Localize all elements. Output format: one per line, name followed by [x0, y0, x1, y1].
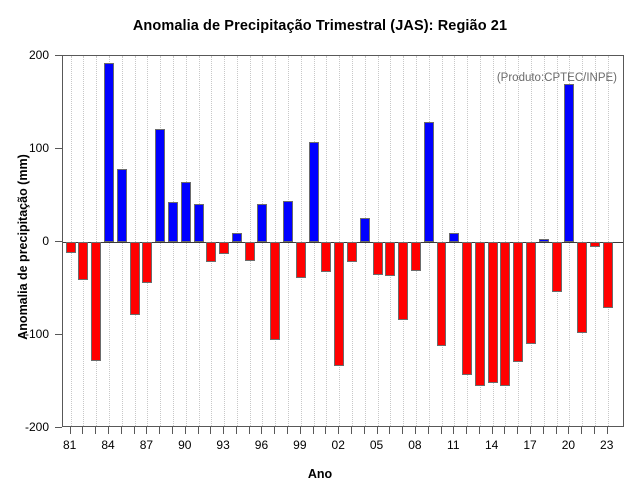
x-tick-mark — [223, 427, 224, 434]
bar-10 — [437, 242, 447, 346]
bar-02 — [334, 242, 344, 366]
gridline-vertical — [96, 56, 97, 426]
bar-87 — [142, 242, 152, 283]
gridline-vertical — [211, 56, 212, 426]
bar-17 — [526, 242, 536, 344]
x-tick-mark — [556, 427, 557, 434]
gridline-vertical — [135, 56, 136, 426]
bar-22 — [590, 242, 600, 247]
bar-11 — [449, 233, 459, 242]
bar-04 — [360, 218, 370, 242]
x-tick-mark — [210, 427, 211, 434]
bar-08 — [411, 242, 421, 271]
gridline-vertical — [390, 56, 391, 426]
x-tick-mark — [134, 427, 135, 434]
gridline-vertical — [378, 56, 379, 426]
x-tick-label: 84 — [101, 438, 114, 452]
x-tick-mark — [274, 427, 275, 434]
bar-86 — [130, 242, 140, 315]
x-tick-label: 14 — [485, 438, 498, 452]
x-tick-mark — [95, 427, 96, 434]
gridline-vertical — [531, 56, 532, 426]
y-axis-label: Anomalia de precipitação (mm) — [16, 67, 30, 427]
x-tick-mark — [70, 427, 71, 434]
x-tick-mark — [338, 427, 339, 434]
bar-89 — [168, 202, 178, 242]
gridline-vertical — [416, 56, 417, 426]
x-tick-label: 99 — [293, 438, 306, 452]
bar-18 — [539, 239, 549, 242]
x-tick-mark — [441, 427, 442, 434]
bar-97 — [270, 242, 280, 340]
x-tick-mark — [364, 427, 365, 434]
bar-99 — [296, 242, 306, 278]
bar-98 — [283, 201, 293, 242]
bar-09 — [424, 122, 434, 242]
x-tick-mark — [351, 427, 352, 434]
gridline-vertical — [147, 56, 148, 426]
x-tick-mark — [377, 427, 378, 434]
x-tick-mark — [249, 427, 250, 434]
bar-90 — [181, 182, 191, 242]
source-annotation: (Produto:CPTEC/INPE) — [497, 72, 617, 84]
x-tick-label: 23 — [600, 438, 613, 452]
gridline-vertical — [518, 56, 519, 426]
x-tick-mark — [172, 427, 173, 434]
bar-81 — [66, 242, 76, 253]
bar-95 — [245, 242, 255, 261]
x-tick-label: 87 — [140, 438, 153, 452]
x-tick-mark — [159, 427, 160, 434]
x-tick-mark — [504, 427, 505, 434]
x-tick-mark — [108, 427, 109, 434]
x-tick-label: 93 — [216, 438, 229, 452]
x-tick-mark — [185, 427, 186, 434]
bar-00 — [309, 142, 319, 242]
bar-84 — [104, 63, 114, 242]
gridline-vertical — [608, 56, 609, 426]
x-tick-mark — [389, 427, 390, 434]
x-tick-mark — [236, 427, 237, 434]
x-tick-mark — [517, 427, 518, 434]
x-tick-label: 81 — [63, 438, 76, 452]
x-tick-mark — [300, 427, 301, 434]
bar-16 — [513, 242, 523, 362]
x-tick-mark — [568, 427, 569, 434]
x-tick-label: 05 — [370, 438, 383, 452]
x-tick-label: 17 — [523, 438, 536, 452]
gridline-vertical — [582, 56, 583, 426]
x-tick-mark — [198, 427, 199, 434]
x-tick-mark — [453, 427, 454, 434]
x-tick-mark — [82, 427, 83, 434]
bar-19 — [552, 242, 562, 292]
gridline-vertical — [352, 56, 353, 426]
x-tick-mark — [146, 427, 147, 434]
gridline-vertical — [301, 56, 302, 426]
x-tick-mark — [492, 427, 493, 434]
y-tick-mark — [55, 55, 62, 56]
x-tick-mark — [415, 427, 416, 434]
bar-94 — [232, 233, 242, 242]
gridline-vertical — [442, 56, 443, 426]
x-tick-mark — [325, 427, 326, 434]
x-tick-mark — [607, 427, 608, 434]
x-axis-label: Ano — [0, 467, 640, 481]
bar-21 — [577, 242, 587, 333]
y-tick-label: 200 — [0, 48, 49, 62]
y-tick-mark — [55, 427, 62, 428]
x-tick-label: 11 — [447, 438, 459, 452]
gridline-vertical — [326, 56, 327, 426]
bar-93 — [219, 242, 229, 254]
bar-14 — [488, 242, 498, 383]
x-tick-mark — [287, 427, 288, 434]
bar-15 — [500, 242, 510, 386]
bar-07 — [398, 242, 408, 320]
bar-85 — [117, 169, 127, 242]
bar-05 — [373, 242, 383, 275]
gridline-vertical — [339, 56, 340, 426]
gridline-vertical — [83, 56, 84, 426]
x-tick-mark — [581, 427, 582, 434]
gridline-vertical — [275, 56, 276, 426]
x-tick-mark — [402, 427, 403, 434]
bar-91 — [194, 204, 204, 242]
gridline-vertical — [224, 56, 225, 426]
x-tick-label: 20 — [562, 438, 575, 452]
gridline-vertical — [557, 56, 558, 426]
bar-01 — [321, 242, 331, 272]
x-tick-mark — [594, 427, 595, 434]
x-tick-mark — [261, 427, 262, 434]
page-title: Anomalia de Precipitação Trimestral (JAS… — [0, 18, 640, 34]
gridline-vertical — [595, 56, 596, 426]
x-tick-mark — [466, 427, 467, 434]
x-tick-label: 08 — [408, 438, 421, 452]
bar-96 — [257, 204, 267, 242]
gridline-vertical — [71, 56, 72, 426]
x-tick-mark — [428, 427, 429, 434]
x-tick-mark — [543, 427, 544, 434]
chart-figure: Anomalia de Precipitação Trimestral (JAS… — [0, 0, 640, 500]
bar-83 — [91, 242, 101, 361]
bar-12 — [462, 242, 472, 375]
x-tick-mark — [530, 427, 531, 434]
gridline-vertical — [403, 56, 404, 426]
x-tick-mark — [479, 427, 480, 434]
bar-92 — [206, 242, 216, 262]
bar-82 — [78, 242, 88, 280]
plot-area: (Produto:CPTEC/INPE) — [62, 55, 624, 427]
y-tick-mark — [55, 241, 62, 242]
x-tick-mark — [313, 427, 314, 434]
bar-23 — [603, 242, 613, 308]
bar-06 — [385, 242, 395, 276]
x-tick-label: 90 — [178, 438, 191, 452]
bar-13 — [475, 242, 485, 386]
x-tick-label: 96 — [255, 438, 268, 452]
x-tick-label: 02 — [332, 438, 345, 452]
bar-20 — [564, 84, 574, 242]
x-tick-mark — [121, 427, 122, 434]
y-tick-mark — [55, 148, 62, 149]
y-tick-mark — [55, 334, 62, 335]
bar-88 — [155, 129, 165, 242]
bar-03 — [347, 242, 357, 262]
gridline-vertical — [250, 56, 251, 426]
